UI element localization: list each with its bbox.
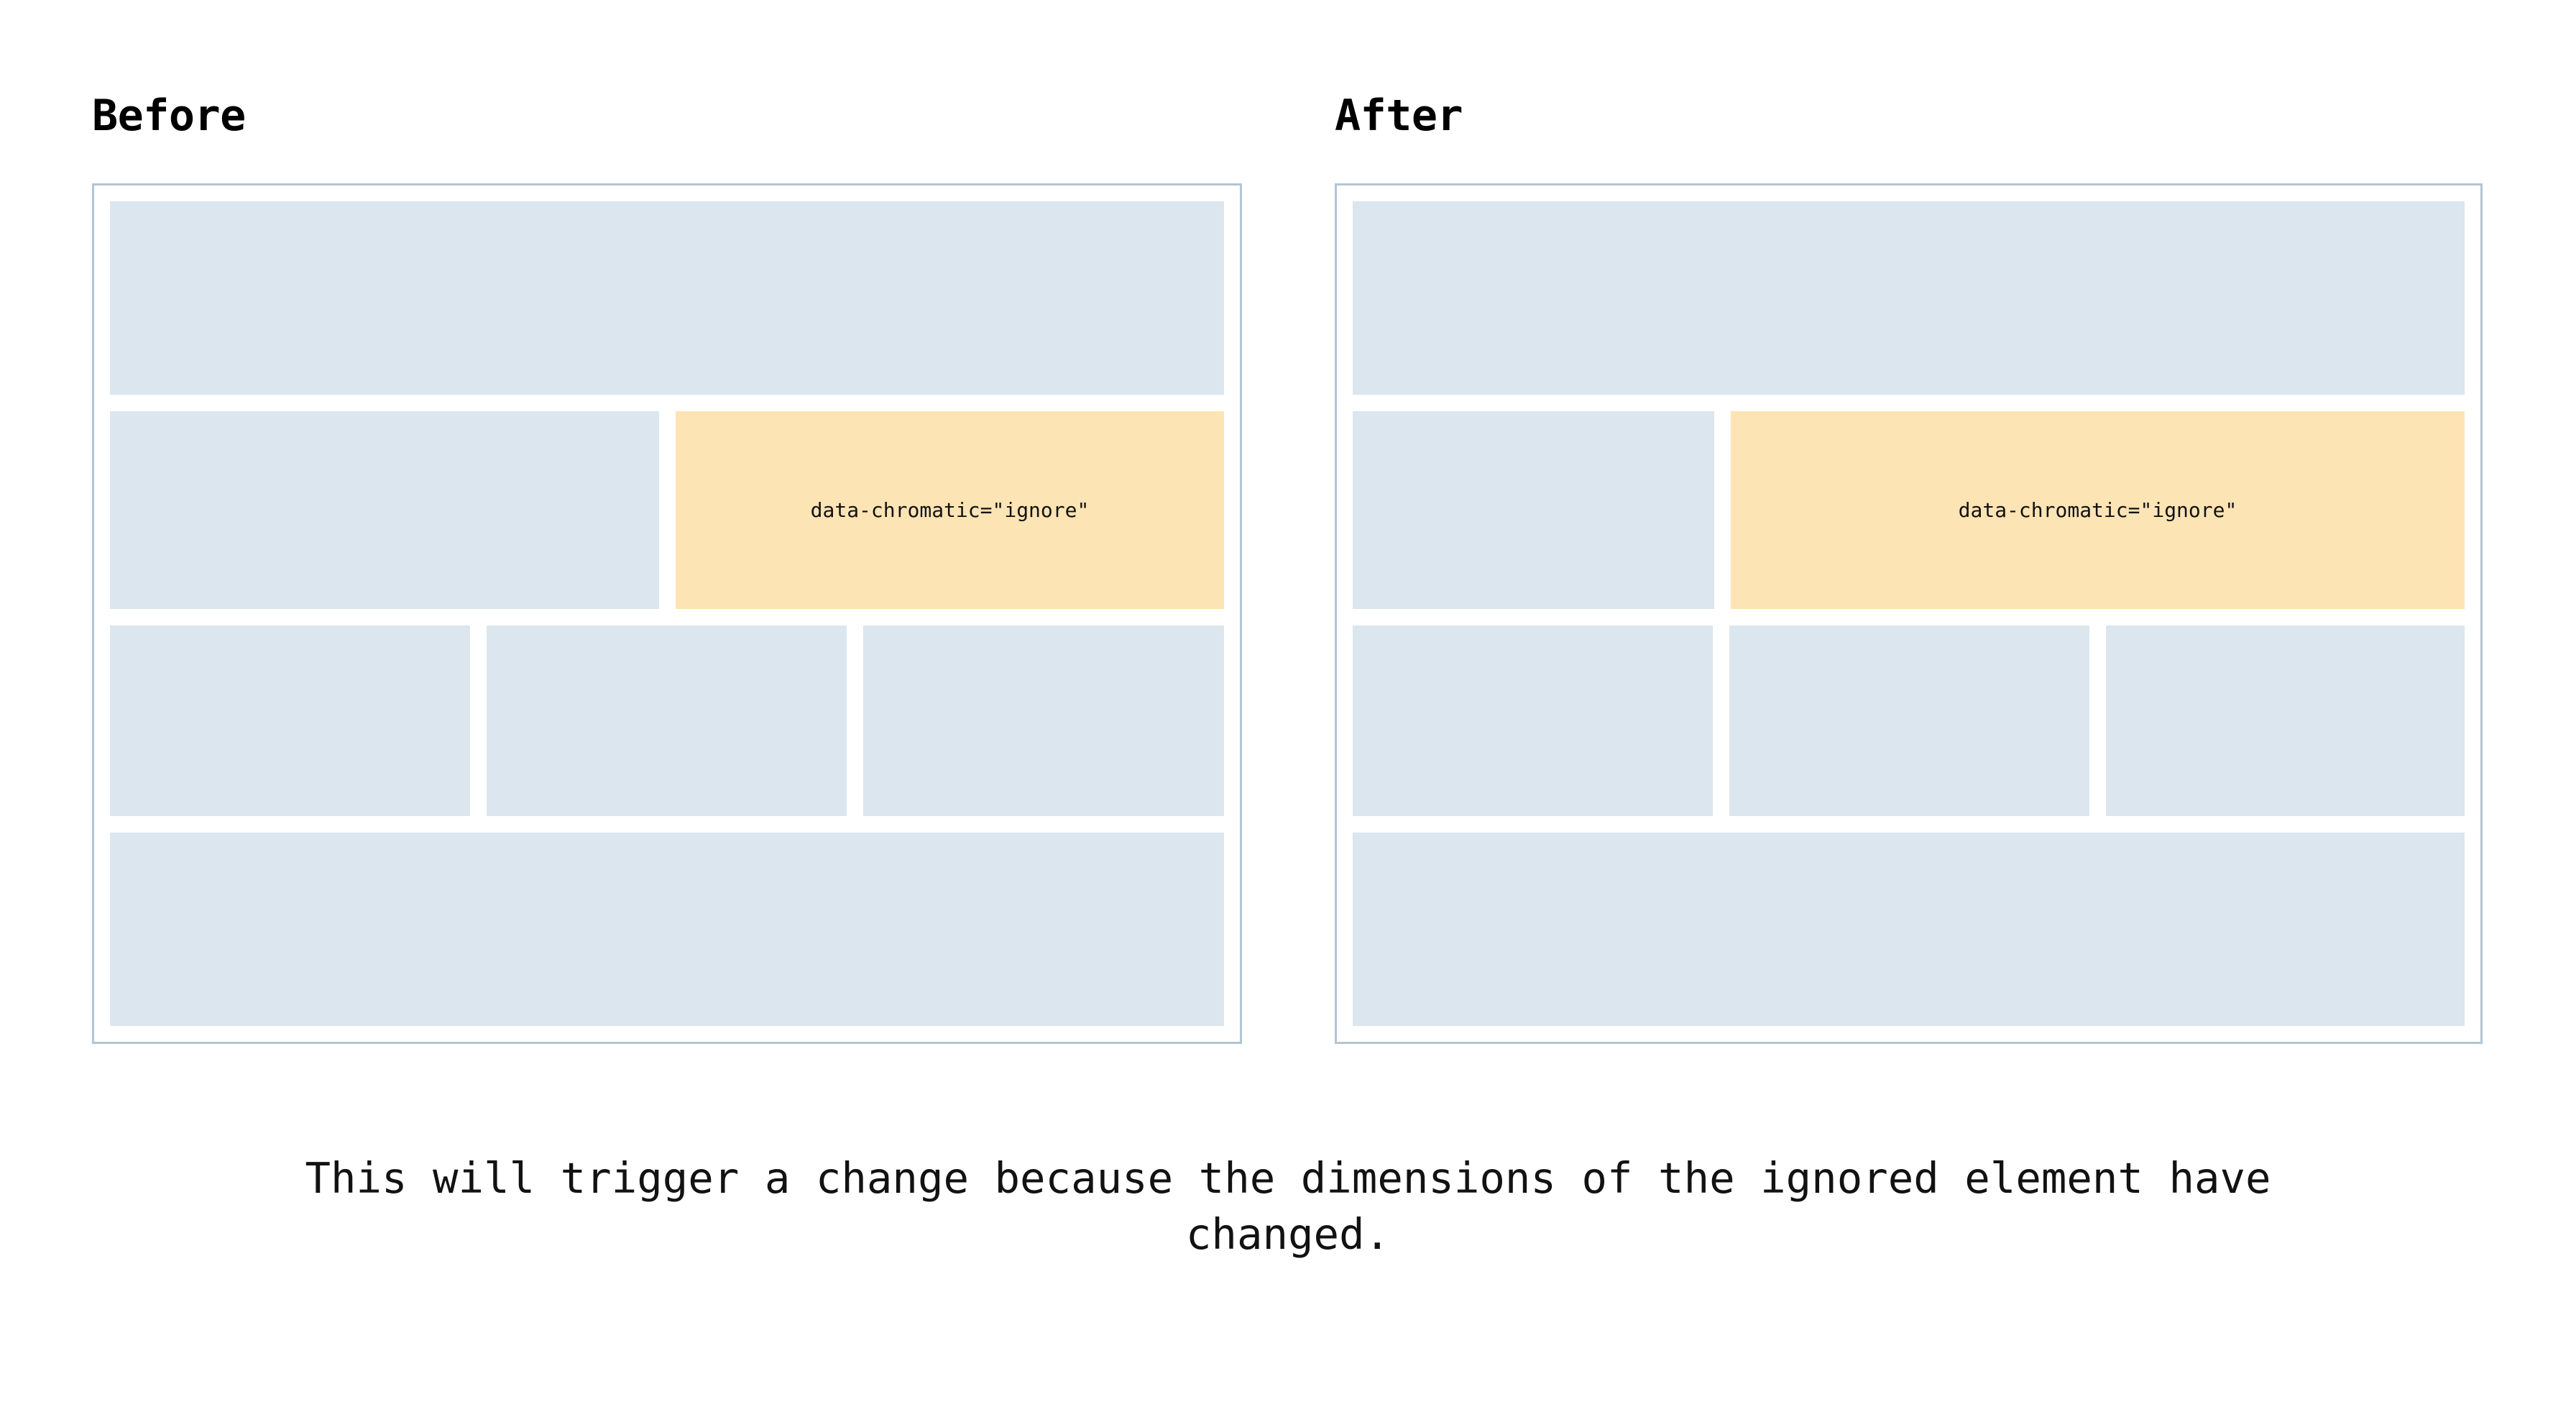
layout-row [1353, 201, 2465, 395]
layout-block [110, 411, 659, 609]
ignored-block: data-chromatic="ignore" [676, 411, 1224, 609]
layout-block [487, 626, 847, 815]
layout-row [110, 201, 1224, 395]
layout-block [110, 833, 1224, 1026]
layout-block [863, 626, 1224, 815]
layout-row: data-chromatic="ignore" [110, 411, 1224, 609]
snapshot-panel-after: data-chromatic="ignore" [1335, 183, 2483, 1044]
layout-block [1729, 626, 2089, 815]
ignored-block: data-chromatic="ignore" [1731, 411, 2465, 609]
layout-block [1353, 626, 1713, 815]
page-title-after: After [1335, 94, 1463, 137]
layout-row [1353, 626, 2465, 815]
layout-row: data-chromatic="ignore" [1353, 411, 2465, 609]
layout-row [110, 626, 1224, 815]
snapshot-panel-before: data-chromatic="ignore" [92, 183, 1242, 1044]
panel-inner-after: data-chromatic="ignore" [1353, 201, 2465, 1026]
layout-row [110, 833, 1224, 1026]
page-title-before: Before [92, 94, 246, 137]
panel-inner-before: data-chromatic="ignore" [110, 201, 1224, 1026]
ignored-block-label: data-chromatic="ignore" [1959, 498, 2237, 522]
layout-block [110, 201, 1224, 395]
layout-block [110, 626, 470, 815]
layout-row [1353, 833, 2465, 1026]
explanation-caption: This will trigger a change because the d… [0, 1150, 2576, 1263]
layout-block [1353, 833, 2465, 1026]
ignored-block-label: data-chromatic="ignore" [811, 498, 1090, 522]
layout-block [1353, 201, 2465, 395]
layout-block [1353, 411, 1714, 609]
layout-block [2106, 626, 2465, 815]
